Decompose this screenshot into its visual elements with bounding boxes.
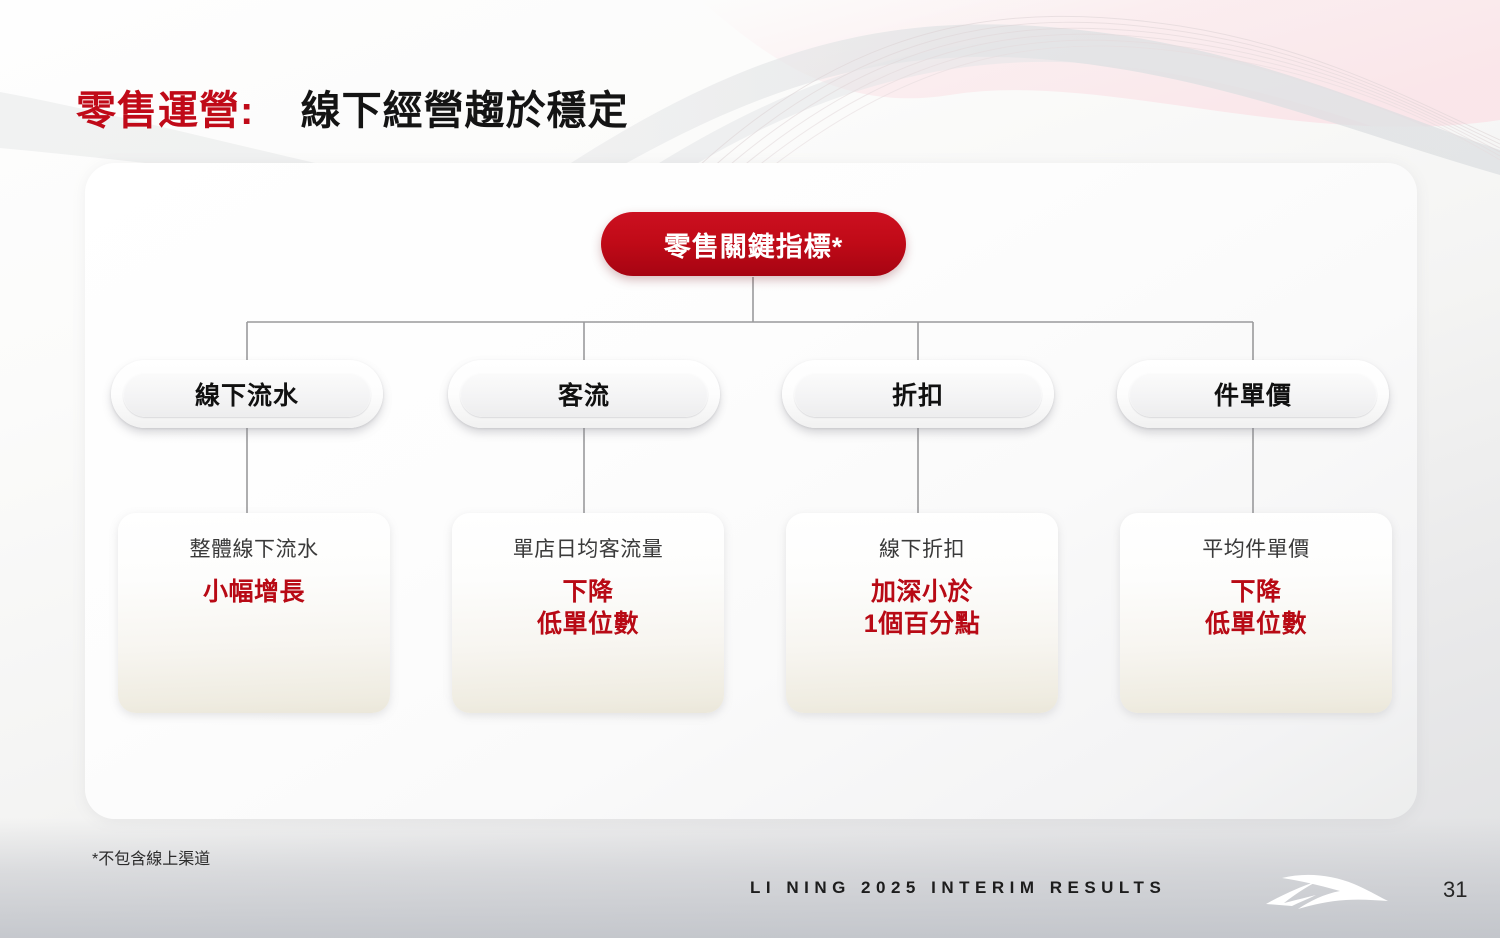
root-node-label: 零售關鍵指標* (664, 225, 844, 264)
branch-pill-4-inner: 件單價 (1129, 372, 1377, 417)
page-title-prefix: 零售運營: (76, 89, 254, 133)
branch-pill-2-label: 客流 (558, 376, 610, 412)
metric-card-4[interactable]: 平均件單價 下降低單位數 (1120, 513, 1392, 713)
metric-card-2-label: 單店日均客流量 (452, 537, 724, 562)
branch-pill-4-label: 件單價 (1214, 376, 1292, 412)
root-node-retail-kpi[interactable]: 零售關鍵指標* (601, 212, 906, 276)
branch-pill-1[interactable]: 線下流水 (111, 360, 383, 428)
branch-pill-1-inner: 線下流水 (123, 372, 371, 417)
page-number: 31 (1443, 877, 1467, 903)
metric-card-2-value: 下降低單位數 (452, 576, 724, 640)
branch-pill-2-inner: 客流 (460, 372, 708, 417)
branch-pill-4[interactable]: 件單價 (1117, 360, 1389, 428)
branch-pill-3-inner: 折扣 (794, 372, 1042, 417)
footnote: *不包含線上渠道 (92, 845, 210, 869)
metric-card-2[interactable]: 單店日均客流量 下降低單位數 (452, 513, 724, 713)
metric-card-3-label: 線下折扣 (786, 537, 1058, 562)
branch-pill-3-label: 折扣 (892, 376, 944, 412)
metric-card-1-value: 小幅增長 (118, 576, 390, 608)
branch-pill-2[interactable]: 客流 (448, 360, 720, 428)
metric-card-3[interactable]: 線下折扣 加深小於1個百分點 (786, 513, 1058, 713)
branch-pill-1-label: 線下流水 (195, 376, 299, 412)
page-title: 零售運營: 線下經營趨於穩定 (76, 78, 629, 136)
metric-card-1[interactable]: 整體線下流水 小幅增長 (118, 513, 390, 713)
li-ning-logo (1262, 868, 1392, 912)
metric-card-3-value: 加深小於1個百分點 (786, 576, 1058, 640)
footer-brand-line: LI NING 2025 INTERIM RESULTS (750, 878, 1166, 898)
page-title-main: 線下經營趨於穩定 (301, 89, 629, 133)
branch-pill-3[interactable]: 折扣 (782, 360, 1054, 428)
metric-card-4-value: 下降低單位數 (1120, 576, 1392, 640)
metric-card-1-label: 整體線下流水 (118, 537, 390, 562)
metric-card-4-label: 平均件單價 (1120, 537, 1392, 562)
